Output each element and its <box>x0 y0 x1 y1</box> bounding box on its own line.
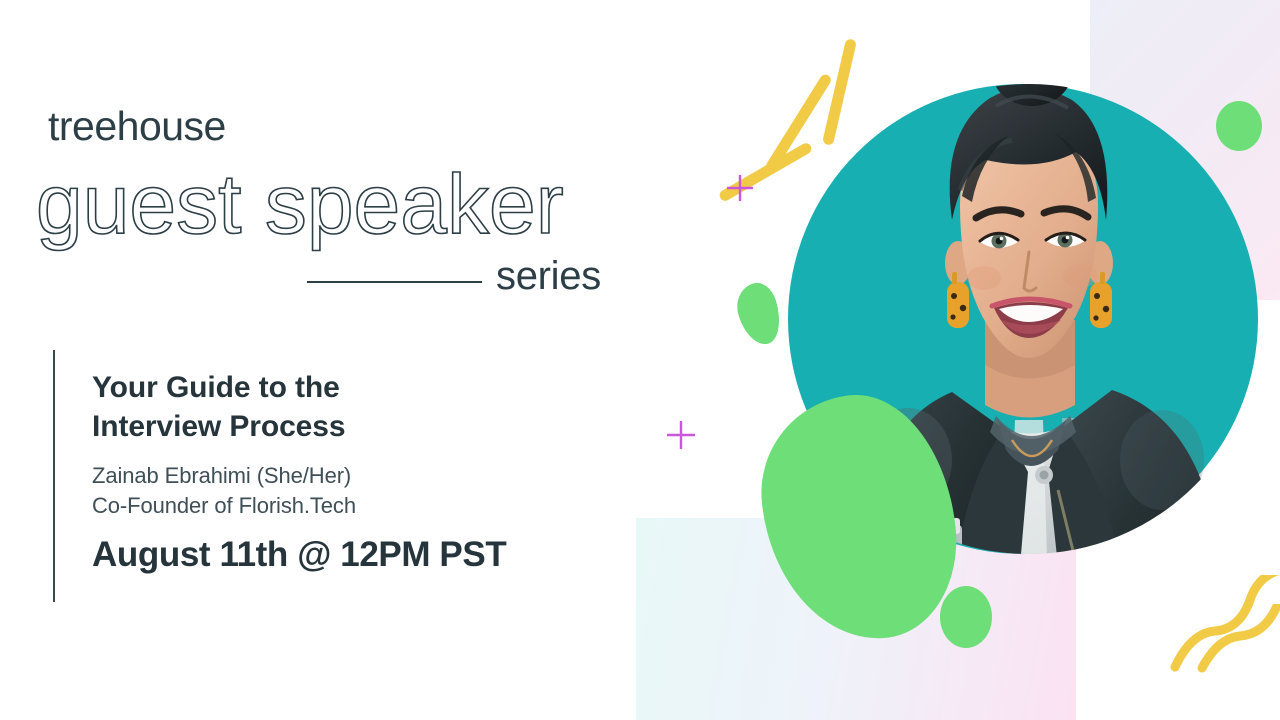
squiggle-stroke-2-icon <box>1196 604 1280 704</box>
speaker-name: Zainab Ebrahimi (She/Her) <box>92 461 612 491</box>
green-blob-small-left-icon <box>731 279 787 350</box>
plus-mark-2-icon <box>665 419 697 451</box>
detail-accent-rule <box>53 350 55 602</box>
event-datetime: August 11th @ 12PM PST <box>92 536 612 575</box>
plus-mark-1-icon <box>725 173 755 203</box>
talk-details: Your Guide to the Interview Process Zain… <box>92 368 612 574</box>
headline-divider <box>307 281 482 283</box>
talk-title: Your Guide to the Interview Process <box>92 368 612 446</box>
slide-canvas: treehouse guest speaker series Your Guid… <box>0 0 1280 720</box>
series-label: series <box>496 256 601 296</box>
brand-name: treehouse <box>48 106 226 147</box>
speaker-role: Co-Founder of Florish.Tech <box>92 491 612 521</box>
green-blob-bottom-icon <box>940 586 992 648</box>
page-title-outline: guest speaker <box>36 162 564 246</box>
